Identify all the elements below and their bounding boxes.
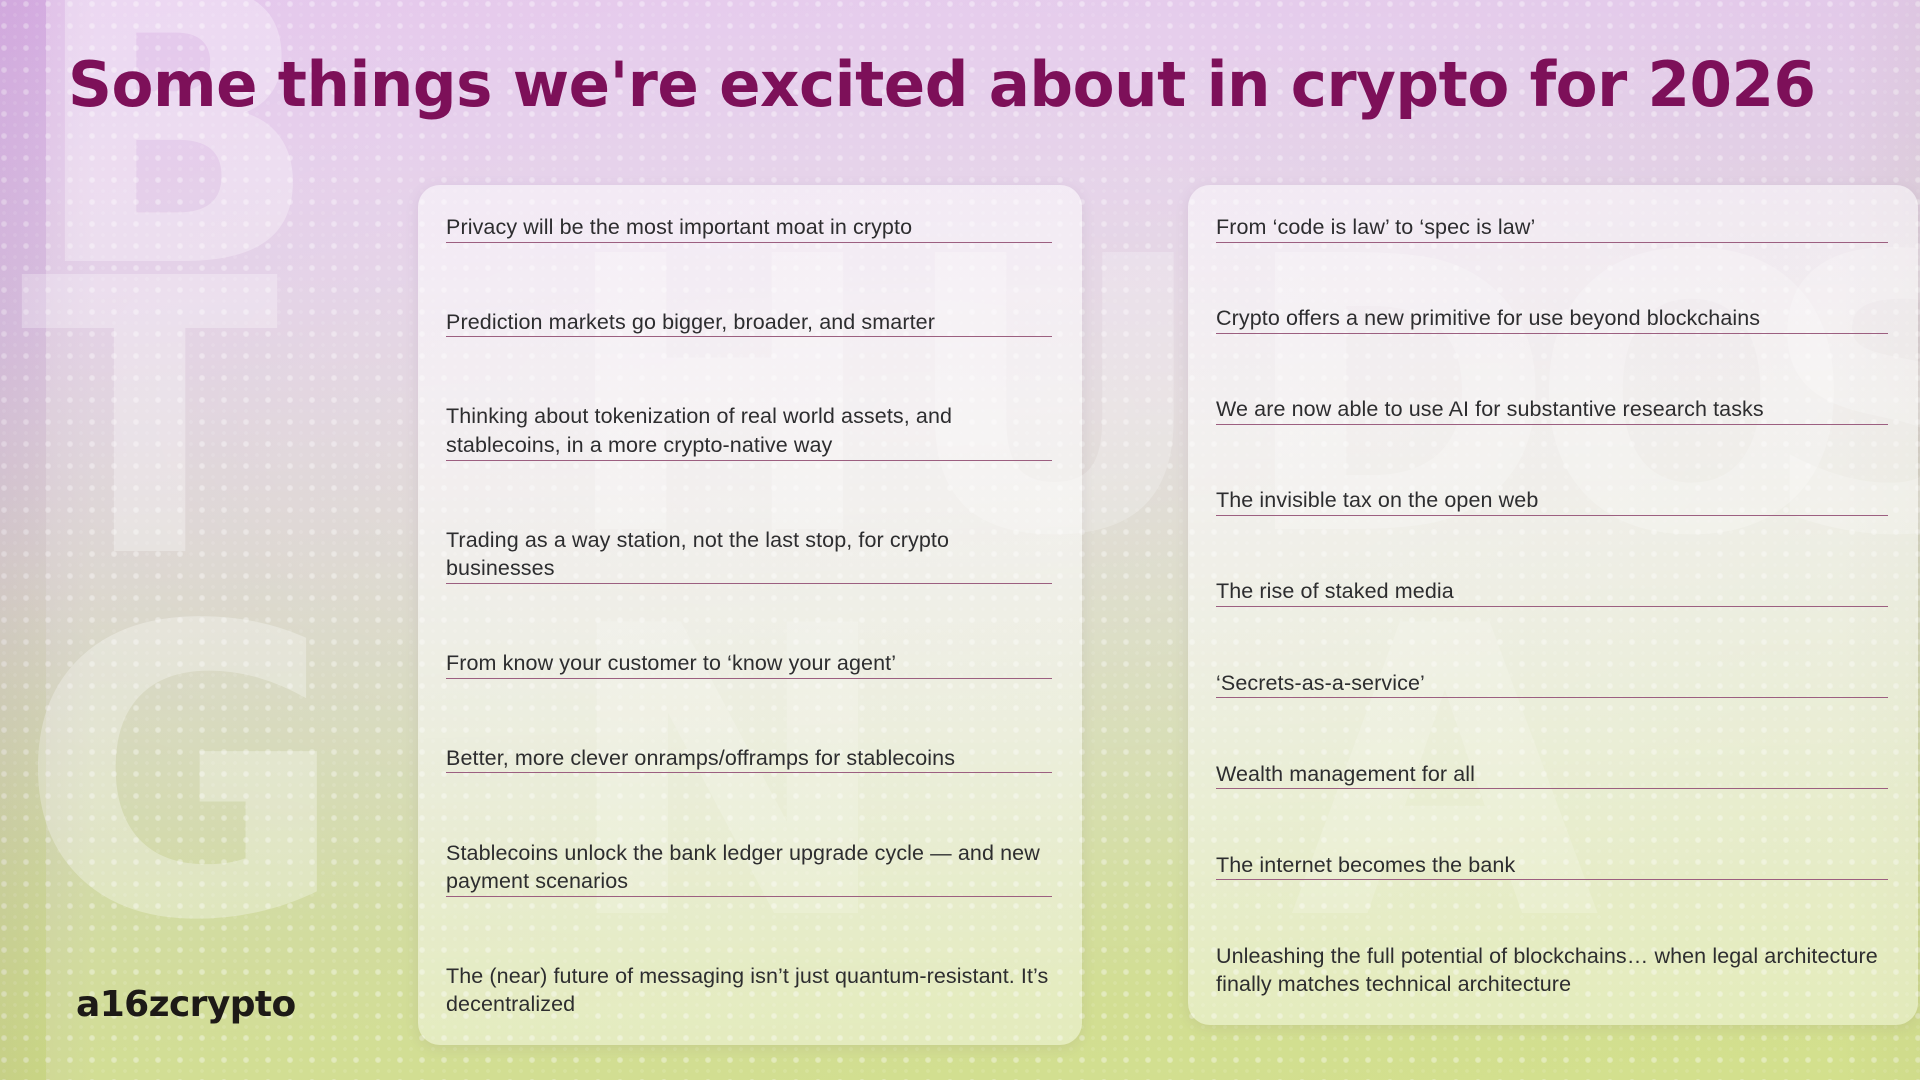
left-topic-item-label: Privacy will be the most important moat …	[446, 211, 1052, 242]
left-topic-item-label: From know your customer to ‘know your ag…	[446, 647, 1052, 678]
left-topics-card: Privacy will be the most important moat …	[418, 185, 1082, 1045]
right-topic-spacer	[1216, 880, 1888, 940]
right-topic-item[interactable]: The internet becomes the bank	[1216, 849, 1888, 880]
right-topic-spacer	[1216, 789, 1888, 849]
left-topic-spacer	[446, 679, 1052, 742]
left-topic-spacer	[446, 773, 1052, 836]
left-topic-item-label: Thinking about tokenization of real worl…	[446, 400, 1052, 459]
right-topic-item[interactable]: The rise of staked media	[1216, 575, 1888, 606]
right-topic-spacer	[1216, 607, 1888, 667]
left-topic-item[interactable]: Trading as a way station, not the last s…	[446, 524, 1052, 583]
right-topic-spacer	[1216, 334, 1888, 394]
left-topic-item[interactable]: Better, more clever onramps/offramps for…	[446, 742, 1052, 773]
left-topic-item[interactable]: The (near) future of messaging isn’t jus…	[446, 960, 1052, 1019]
right-topic-item-label: We are now able to use AI for substantiv…	[1216, 393, 1888, 424]
right-topic-item-label: The internet becomes the bank	[1216, 849, 1888, 880]
left-topic-item[interactable]: Stablecoins unlock the bank ledger upgra…	[446, 837, 1052, 896]
right-topic-spacer	[1216, 425, 1888, 485]
right-topic-item[interactable]: From ‘code is law’ to ‘spec is law’	[1216, 211, 1888, 242]
right-topic-item-label: From ‘code is law’ to ‘spec is law’	[1216, 211, 1888, 242]
left-topic-item-label: Stablecoins unlock the bank ledger upgra…	[446, 837, 1052, 896]
left-topic-spacer	[446, 584, 1052, 647]
right-topic-item-label: Wealth management for all	[1216, 758, 1888, 789]
left-topic-item-label: Better, more clever onramps/offramps for…	[446, 742, 1052, 773]
slide-canvas: B T G H U D O S N A Some things we're ex…	[0, 0, 1920, 1080]
right-topic-item[interactable]: The invisible tax on the open web	[1216, 484, 1888, 515]
left-topic-item-label: The (near) future of messaging isn’t jus…	[446, 960, 1052, 1019]
a16zcrypto-logo: a16zcrypto	[76, 984, 296, 1025]
right-topic-item-label: ‘Secrets-as-a-service’	[1216, 667, 1888, 698]
left-topic-item[interactable]: Prediction markets go bigger, broader, a…	[446, 306, 1052, 337]
right-topic-item[interactable]: ‘Secrets-as-a-service’	[1216, 667, 1888, 698]
right-topic-item-label: The rise of staked media	[1216, 575, 1888, 606]
right-topic-spacer	[1216, 516, 1888, 576]
right-topic-item-label: The invisible tax on the open web	[1216, 484, 1888, 515]
left-topic-spacer	[446, 337, 1052, 400]
left-topic-item[interactable]: Privacy will be the most important moat …	[446, 211, 1052, 242]
right-topic-item[interactable]: We are now able to use AI for substantiv…	[1216, 393, 1888, 424]
right-topic-item-label: Unleashing the full potential of blockch…	[1216, 940, 1888, 999]
right-topic-item-label: Crypto offers a new primitive for use be…	[1216, 302, 1888, 333]
page-title: Some things we're excited about in crypt…	[68, 54, 1841, 116]
right-topics-card: From ‘code is law’ to ‘spec is law’Crypt…	[1188, 185, 1918, 1025]
right-topic-item[interactable]: Crypto offers a new primitive for use be…	[1216, 302, 1888, 333]
right-topic-spacer	[1216, 243, 1888, 303]
left-topic-spacer	[446, 243, 1052, 306]
left-topic-spacer	[446, 461, 1052, 524]
left-topic-spacer	[446, 897, 1052, 960]
left-topic-item[interactable]: Thinking about tokenization of real worl…	[446, 400, 1052, 459]
right-topic-item[interactable]: Wealth management for all	[1216, 758, 1888, 789]
left-topic-item-label: Trading as a way station, not the last s…	[446, 524, 1052, 583]
right-topic-item[interactable]: Unleashing the full potential of blockch…	[1216, 940, 1888, 999]
right-topic-spacer	[1216, 698, 1888, 758]
left-topic-item[interactable]: From know your customer to ‘know your ag…	[446, 647, 1052, 678]
left-topic-item-label: Prediction markets go bigger, broader, a…	[446, 306, 1052, 337]
